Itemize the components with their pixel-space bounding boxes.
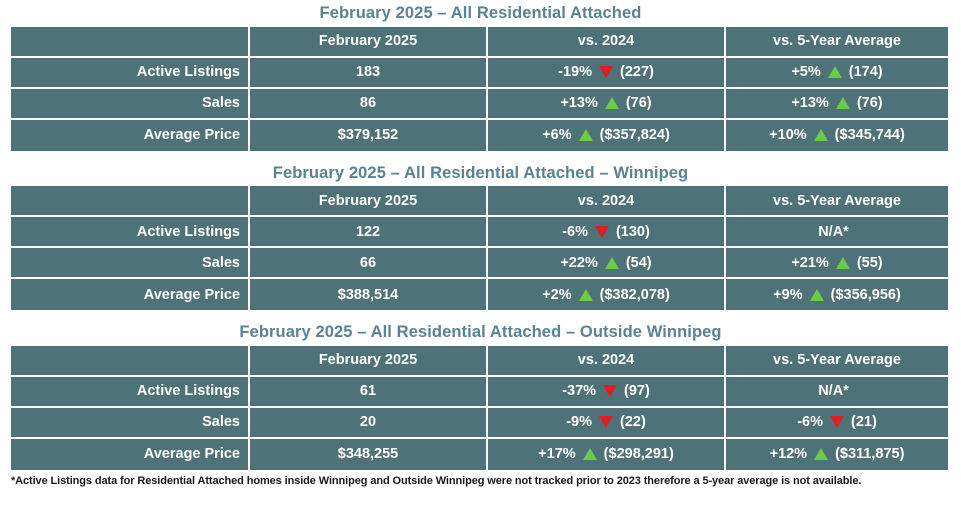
table-row: Average Price $379,152 +6% ($357,824) +1… [11, 120, 948, 151]
trend-down-icon [595, 226, 609, 238]
trend-down-icon [599, 416, 613, 428]
cell-vs-five-year: +9% ($356,956) [726, 279, 948, 310]
cell-vs-five-year: +13% (76) [726, 89, 948, 120]
table-row: Average Price $388,514 +2% ($382,078) +9… [11, 279, 948, 310]
baseline-value: (21) [851, 415, 877, 430]
cell-vs-prev-year: -9% (22) [488, 408, 726, 439]
cell-vs-prev-year: +6% ($357,824) [488, 120, 726, 151]
trend-up-icon [814, 448, 828, 460]
table-row: Sales 20 -9% (22) -6% (21) [11, 408, 948, 439]
change-percent: -6% [562, 225, 588, 240]
row-label: Active Listings [11, 58, 250, 89]
header-vs-five-year-average: vs. 5-Year Average [726, 186, 948, 217]
trend-up-icon [605, 97, 619, 109]
row-label: Active Listings [11, 377, 250, 408]
cell-vs-five-year: +21% (55) [726, 248, 948, 279]
table-row: Sales 86 +13% (76) +13% (76) [11, 89, 948, 120]
stats-page: February 2025 – All Residential Attached… [0, 0, 961, 515]
header-current-period: February 2025 [250, 27, 488, 58]
cell-vs-five-year: +12% ($311,875) [726, 439, 948, 470]
cell-current: 20 [250, 408, 488, 439]
cell-vs-prev-year: +22% (54) [488, 248, 726, 279]
row-label: Sales [11, 248, 250, 279]
baseline-value: ($345,744) [835, 128, 905, 143]
change-percent: +6% [542, 128, 571, 143]
cell-vs-prev-year: +13% (76) [488, 89, 726, 120]
section-spacer [0, 151, 961, 160]
change-percent: +2% [542, 288, 571, 303]
change-percent: +22% [560, 256, 598, 271]
stats-table: February 2025 vs. 2024 vs. 5-Year Averag… [11, 27, 948, 151]
cell-current: $348,255 [250, 439, 488, 470]
table-row: Sales 66 +22% (54) +21% (55) [11, 248, 948, 279]
change-percent: -6% [797, 415, 823, 430]
table-row: Active Listings 183 -19% (227) +5% [11, 58, 948, 89]
cell-vs-five-year: +10% ($345,744) [726, 120, 948, 151]
baseline-value: (97) [624, 384, 650, 399]
cell-current: 61 [250, 377, 488, 408]
not-available-value: N/A* [818, 384, 849, 399]
trend-up-icon [810, 289, 824, 301]
header-blank [11, 27, 250, 58]
section-all-residential-attached: February 2025 – All Residential Attached… [0, 0, 961, 151]
stats-table: February 2025 vs. 2024 vs. 5-Year Averag… [11, 186, 948, 310]
trend-up-icon [579, 129, 593, 141]
change-percent: +17% [538, 447, 576, 462]
change-percent: +9% [773, 288, 802, 303]
row-label: Average Price [11, 279, 250, 310]
trend-up-icon [828, 66, 842, 78]
change-percent: +12% [770, 447, 808, 462]
trend-up-icon [579, 289, 593, 301]
header-vs-prev-year: vs. 2024 [488, 186, 726, 217]
cell-vs-five-year: N/A* [726, 217, 948, 248]
trend-down-icon [830, 416, 844, 428]
baseline-value: (227) [620, 65, 654, 80]
baseline-value: ($382,078) [600, 288, 670, 303]
row-label: Average Price [11, 120, 250, 151]
change-percent: -9% [566, 415, 592, 430]
baseline-value: (54) [626, 256, 652, 271]
stats-table: February 2025 vs. 2024 vs. 5-Year Averag… [11, 346, 948, 470]
baseline-value: ($298,291) [604, 447, 674, 462]
section-winnipeg: February 2025 – All Residential Attached… [0, 160, 961, 311]
cell-vs-five-year: +5% (174) [726, 58, 948, 89]
cell-vs-prev-year: +2% ($382,078) [488, 279, 726, 310]
table-row: Active Listings 122 -6% (130) N/A* [11, 217, 948, 248]
section-outside-winnipeg: February 2025 – All Residential Attached… [0, 319, 961, 470]
change-percent: +10% [769, 128, 807, 143]
trend-up-icon [605, 257, 619, 269]
baseline-value: ($356,956) [831, 288, 901, 303]
change-percent: +21% [791, 256, 829, 271]
change-percent: -19% [558, 65, 592, 80]
footnote: *Active Listings data for Residential At… [0, 470, 961, 487]
cell-vs-five-year: N/A* [726, 377, 948, 408]
section-spacer [0, 310, 961, 319]
baseline-value: ($357,824) [600, 128, 670, 143]
change-percent: +5% [791, 65, 820, 80]
cell-current: 183 [250, 58, 488, 89]
table-header-row: February 2025 vs. 2024 vs. 5-Year Averag… [11, 27, 948, 58]
section-title: February 2025 – All Residential Attached… [0, 319, 961, 346]
header-blank [11, 186, 250, 217]
baseline-value: (76) [857, 96, 883, 111]
cell-current: 122 [250, 217, 488, 248]
header-current-period: February 2025 [250, 186, 488, 217]
cell-vs-prev-year: -37% (97) [488, 377, 726, 408]
baseline-value: (76) [626, 96, 652, 111]
cell-vs-five-year: -6% (21) [726, 408, 948, 439]
table-row: Active Listings 61 -37% (97) N/A* [11, 377, 948, 408]
header-vs-prev-year: vs. 2024 [488, 346, 726, 377]
not-available-value: N/A* [818, 225, 849, 240]
baseline-value: (55) [857, 256, 883, 271]
header-vs-five-year-average: vs. 5-Year Average [726, 346, 948, 377]
row-label: Sales [11, 89, 250, 120]
baseline-value: ($311,875) [835, 447, 904, 462]
header-vs-prev-year: vs. 2024 [488, 27, 726, 58]
baseline-value: (22) [620, 415, 646, 430]
change-percent: -37% [562, 384, 596, 399]
header-vs-five-year-average: vs. 5-Year Average [726, 27, 948, 58]
cell-current: $379,152 [250, 120, 488, 151]
trend-down-icon [599, 66, 613, 78]
table-row: Average Price $348,255 +17% ($298,291) +… [11, 439, 948, 470]
change-percent: +13% [560, 96, 598, 111]
table-header-row: February 2025 vs. 2024 vs. 5-Year Averag… [11, 186, 948, 217]
cell-vs-prev-year: -19% (227) [488, 58, 726, 89]
cell-vs-prev-year: -6% (130) [488, 217, 726, 248]
baseline-value: (174) [849, 65, 883, 80]
row-label: Sales [11, 408, 250, 439]
table-header-row: February 2025 vs. 2024 vs. 5-Year Averag… [11, 346, 948, 377]
cell-current: 86 [250, 89, 488, 120]
change-percent: +13% [791, 96, 829, 111]
baseline-value: (130) [616, 225, 650, 240]
trend-down-icon [603, 385, 617, 397]
trend-up-icon [583, 448, 597, 460]
row-label: Active Listings [11, 217, 250, 248]
cell-vs-prev-year: +17% ($298,291) [488, 439, 726, 470]
cell-current: $388,514 [250, 279, 488, 310]
header-current-period: February 2025 [250, 346, 488, 377]
trend-up-icon [814, 129, 828, 141]
section-title: February 2025 – All Residential Attached [0, 0, 961, 27]
row-label: Average Price [11, 439, 250, 470]
cell-current: 66 [250, 248, 488, 279]
trend-up-icon [836, 257, 850, 269]
trend-up-icon [836, 97, 850, 109]
section-title: February 2025 – All Residential Attached… [0, 160, 961, 187]
header-blank [11, 346, 250, 377]
